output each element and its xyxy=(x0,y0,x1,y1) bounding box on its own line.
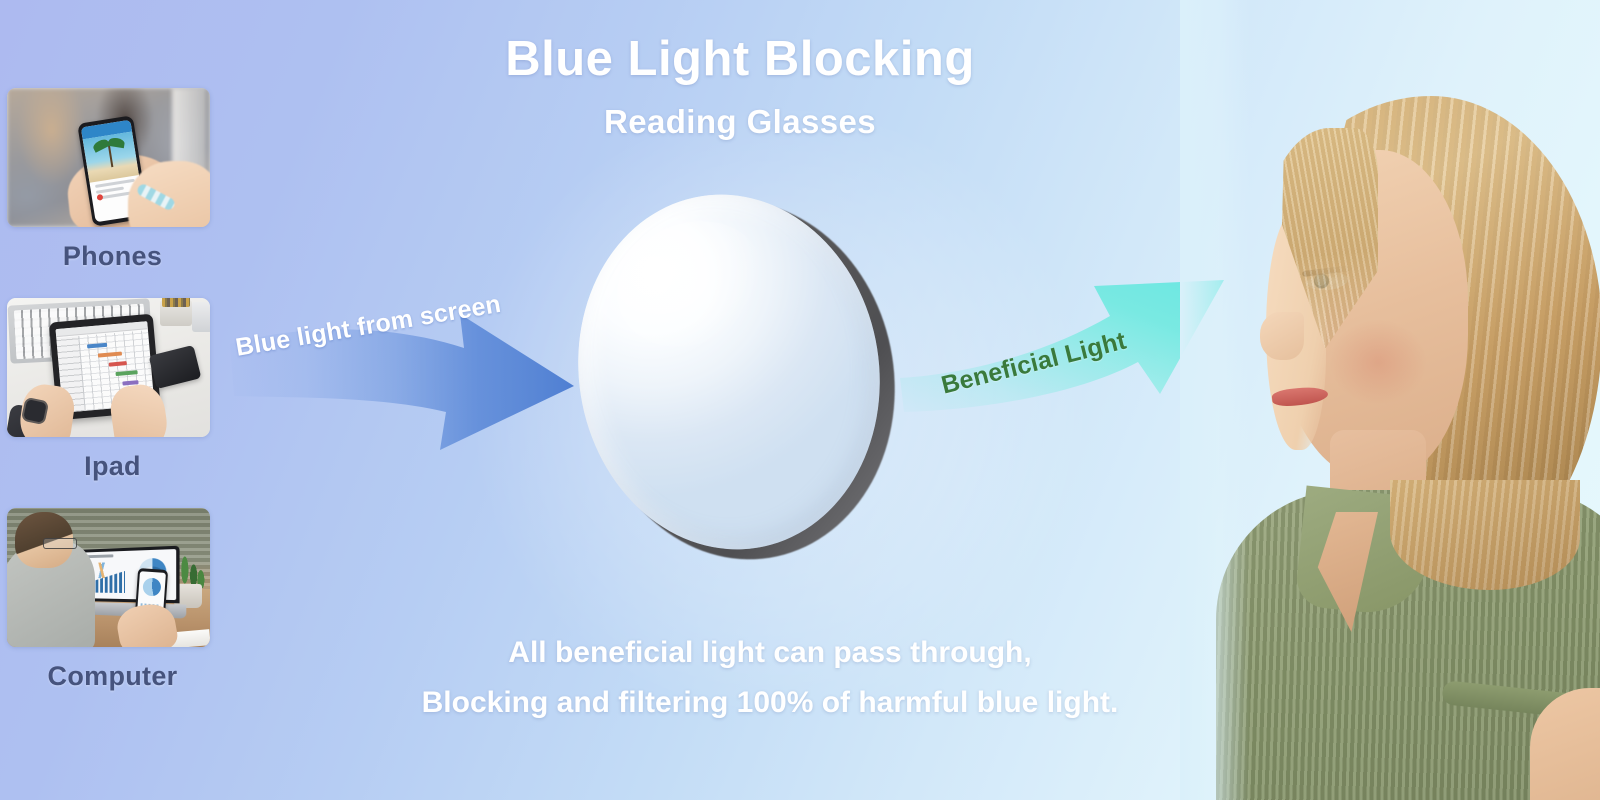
device-item-phones: Phones xyxy=(0,88,225,272)
model-photo xyxy=(1180,0,1600,800)
drinking-glass xyxy=(192,302,210,332)
thumbnail-ipad xyxy=(7,298,210,437)
palm-tree-icon xyxy=(107,141,113,167)
pencils xyxy=(162,298,190,307)
blue-light-arrow xyxy=(228,300,588,480)
green-arrow-shape xyxy=(900,280,1224,412)
beneficial-light-arrow xyxy=(898,270,1228,420)
benefit-line-1: All beneficial light can pass through, xyxy=(300,628,1240,678)
nose xyxy=(1260,312,1304,360)
lens-illustration xyxy=(575,190,915,570)
blue-arrow-shape xyxy=(230,314,574,450)
cheek-blush xyxy=(1330,320,1426,404)
poster-canvas: Blue Light Blocking Reading Glasses xyxy=(0,0,1600,800)
device-item-ipad: Ipad xyxy=(0,298,225,482)
thumbnail-phones xyxy=(7,88,210,227)
benefit-copy: All beneficial light can pass through, B… xyxy=(300,628,1240,729)
device-label-ipad: Ipad xyxy=(0,451,225,482)
spacer xyxy=(0,482,225,508)
lens-face xyxy=(553,173,905,572)
device-item-computer: Computer xyxy=(0,508,225,692)
thumbnail-computer xyxy=(7,508,210,647)
spacer xyxy=(0,272,225,298)
page-title: Blue Light Blocking xyxy=(240,34,1240,86)
pie-chart xyxy=(142,577,161,596)
like-badge-icon xyxy=(96,194,103,201)
device-list: Phones xyxy=(0,88,225,692)
page-subtitle: Reading Glasses xyxy=(240,103,1240,141)
eyeglasses xyxy=(43,538,77,549)
benefit-line-2: Blocking and filtering 100% of harmful b… xyxy=(300,678,1240,728)
device-label-computer: Computer xyxy=(0,661,225,692)
beach-photo-post xyxy=(82,131,138,182)
wristwatch xyxy=(23,399,47,423)
device-label-phones: Phones xyxy=(0,241,225,272)
